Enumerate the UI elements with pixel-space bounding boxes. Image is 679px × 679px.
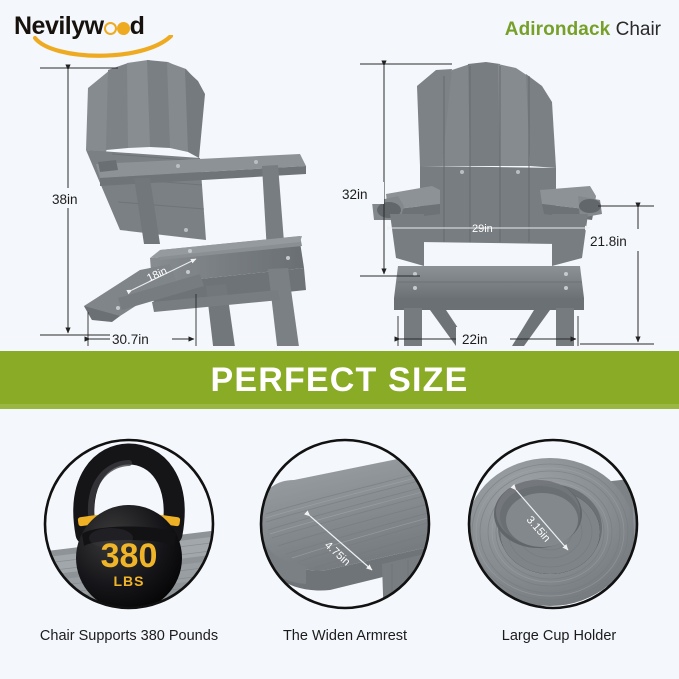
front-view-chair-illustration xyxy=(372,62,602,346)
brand-logo: Nevilywd xyxy=(14,12,204,56)
brand-logo-ring-o-icon xyxy=(104,22,117,35)
banner-title: PERFECT SIZE xyxy=(210,361,468,400)
side-width-label: 30.7in xyxy=(112,332,149,346)
perfect-size-banner: PERFECT SIZE xyxy=(0,351,679,409)
feature-item-armrest: 4.75in The Widen Armrest xyxy=(232,428,458,678)
front-base-width-label: 22in xyxy=(462,332,488,346)
page-title: Adirondack Chair xyxy=(505,19,661,41)
infographic-page: Nevilywd Adirondack Chair xyxy=(0,0,679,679)
feature-item-cup-holder: 3.15in Large Cup Holder xyxy=(446,428,672,678)
armrest-icon: 4.75in xyxy=(232,428,458,624)
weight-unit: LBS xyxy=(114,573,145,589)
page-title-plain: Chair xyxy=(610,19,661,40)
front-arm-width-label: 29in xyxy=(472,223,493,235)
feature-caption-armrest: The Widen Armrest xyxy=(232,628,458,644)
weight-number: 380 xyxy=(101,537,158,575)
side-view-chair-illustration xyxy=(84,60,306,346)
page-title-brand: Adirondack xyxy=(505,19,611,40)
front-arm-height-label: 21.8in xyxy=(590,234,627,249)
dimension-diagrams: 38in 30.7in 18in xyxy=(0,54,679,346)
brand-logo-dot-o-icon xyxy=(117,22,130,35)
feature-item-weight-capacity: 380 LBS Chair Supports 380 Pounds xyxy=(16,428,242,678)
feature-highlights: 380 LBS Chair Supports 380 Pounds xyxy=(0,414,679,679)
front-height-label: 32in xyxy=(342,187,368,202)
feature-caption-weight-capacity: Chair Supports 380 Pounds xyxy=(16,628,242,644)
header: Nevilywd Adirondack Chair xyxy=(0,0,679,58)
feature-caption-cup-holder: Large Cup Holder xyxy=(446,628,672,644)
banner-bottom-stripe xyxy=(0,404,679,409)
side-height-label: 38in xyxy=(52,192,78,207)
cup-holder-icon: 3.15in xyxy=(446,428,672,624)
kettlebell-icon: 380 LBS xyxy=(16,428,242,624)
